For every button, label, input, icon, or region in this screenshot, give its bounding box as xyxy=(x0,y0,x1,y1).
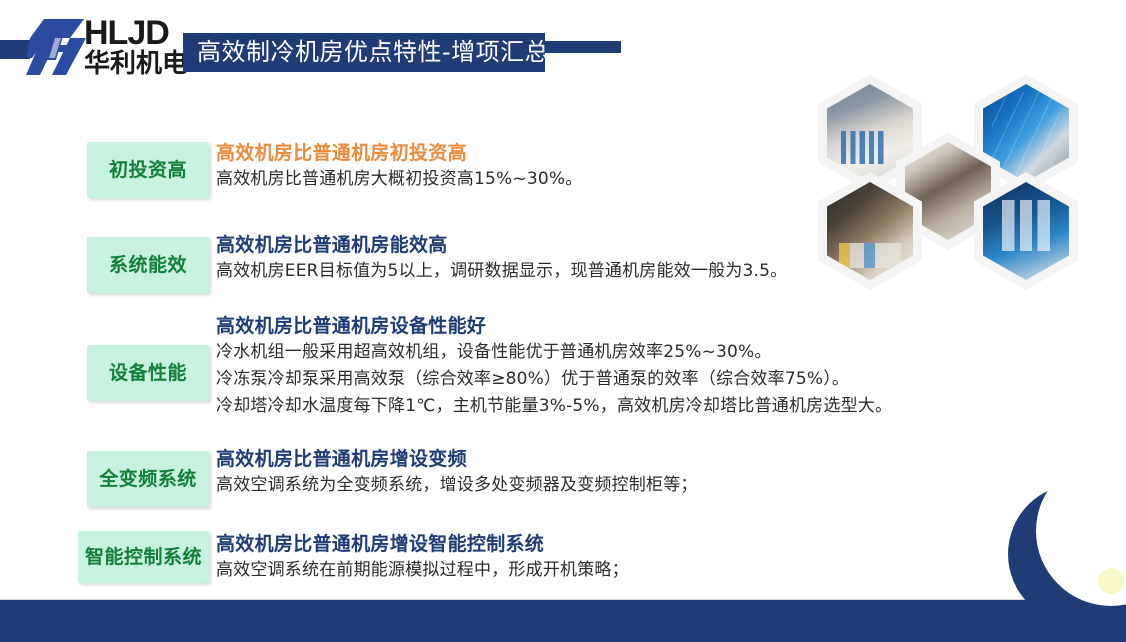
feature-heading: 高效机房比普通机房能效高 xyxy=(216,232,787,258)
feature-body-line: 高效机房EER目标值为5以上，调研数据显示，现普通机房能效一般为3.5。 xyxy=(216,258,787,285)
feature-body-line: 冷水机组一般采用超高效机组，设备性能优于普通机房效率25%~30%。 xyxy=(216,339,892,366)
footer-band xyxy=(0,600,1126,642)
feature-body-line: 高效空调系统在前期能源模拟过程中，形成开机策略； xyxy=(216,557,629,584)
feature-heading: 高效机房比普通机房设备性能好 xyxy=(216,313,892,339)
feature-content: 高效机房比普通机房设备性能好 冷水机组一般采用超高效机组，设备性能优于普通机房效… xyxy=(216,313,892,420)
feature-heading: 高效机房比普通机房增设变频 xyxy=(216,446,698,472)
feature-heading: 高效机房比普通机房初投资高 xyxy=(216,140,582,166)
feature-tag[interactable]: 全变频系统 xyxy=(87,451,209,507)
feature-body-line: 高效机房比普通机房大概初投资高15%~30%。 xyxy=(216,166,582,193)
feature-heading: 高效机房比普通机房增设智能控制系统 xyxy=(216,531,629,557)
feature-tag[interactable]: 初投资高 xyxy=(87,142,209,198)
feature-content: 高效机房比普通机房增设智能控制系统 高效空调系统在前期能源模拟过程中，形成开机策… xyxy=(216,531,629,584)
footer-accent-dot xyxy=(1098,568,1124,594)
feature-content: 高效机房比普通机房初投资高 高效机房比普通机房大概初投资高15%~30%。 xyxy=(216,140,582,193)
feature-tag-label: 设备性能 xyxy=(109,362,187,384)
feature-tag[interactable]: 智能控制系统 xyxy=(78,531,209,583)
feature-content: 高效机房比普通机房增设变频 高效空调系统为全变频系统，增设多处变频器及变频控制柜… xyxy=(216,446,698,499)
feature-tag-label: 全变频系统 xyxy=(99,468,197,490)
feature-body-line: 冷冻泵冷却泵采用高效泵（综合效率≥80%）优于普通泵的效率（综合效率75%）。 xyxy=(216,366,892,393)
feature-tag-label: 系统能效 xyxy=(109,254,187,276)
slide-canvas: HLJD 华利机电 高效制冷机房优点特性-增项汇总 初投资高 xyxy=(0,0,1126,642)
feature-tag-label: 初投资高 xyxy=(109,159,187,181)
feature-row-list: 初投资高 高效机房比普通机房初投资高 高效机房比普通机房大概初投资高15%~30… xyxy=(0,0,1126,642)
feature-body-line: 冷却塔冷却水温度每下降1℃，主机节能量3%-5%，高效机房冷却塔比普通机房选型大… xyxy=(216,393,892,420)
feature-tag[interactable]: 系统能效 xyxy=(87,237,209,293)
feature-content: 高效机房比普通机房能效高 高效机房EER目标值为5以上，调研数据显示，现普通机房… xyxy=(216,232,787,285)
feature-tag-label: 智能控制系统 xyxy=(85,546,202,568)
feature-body-line: 高效空调系统为全变频系统，增设多处变频器及变频控制柜等； xyxy=(216,472,698,499)
feature-tag[interactable]: 设备性能 xyxy=(87,345,209,401)
